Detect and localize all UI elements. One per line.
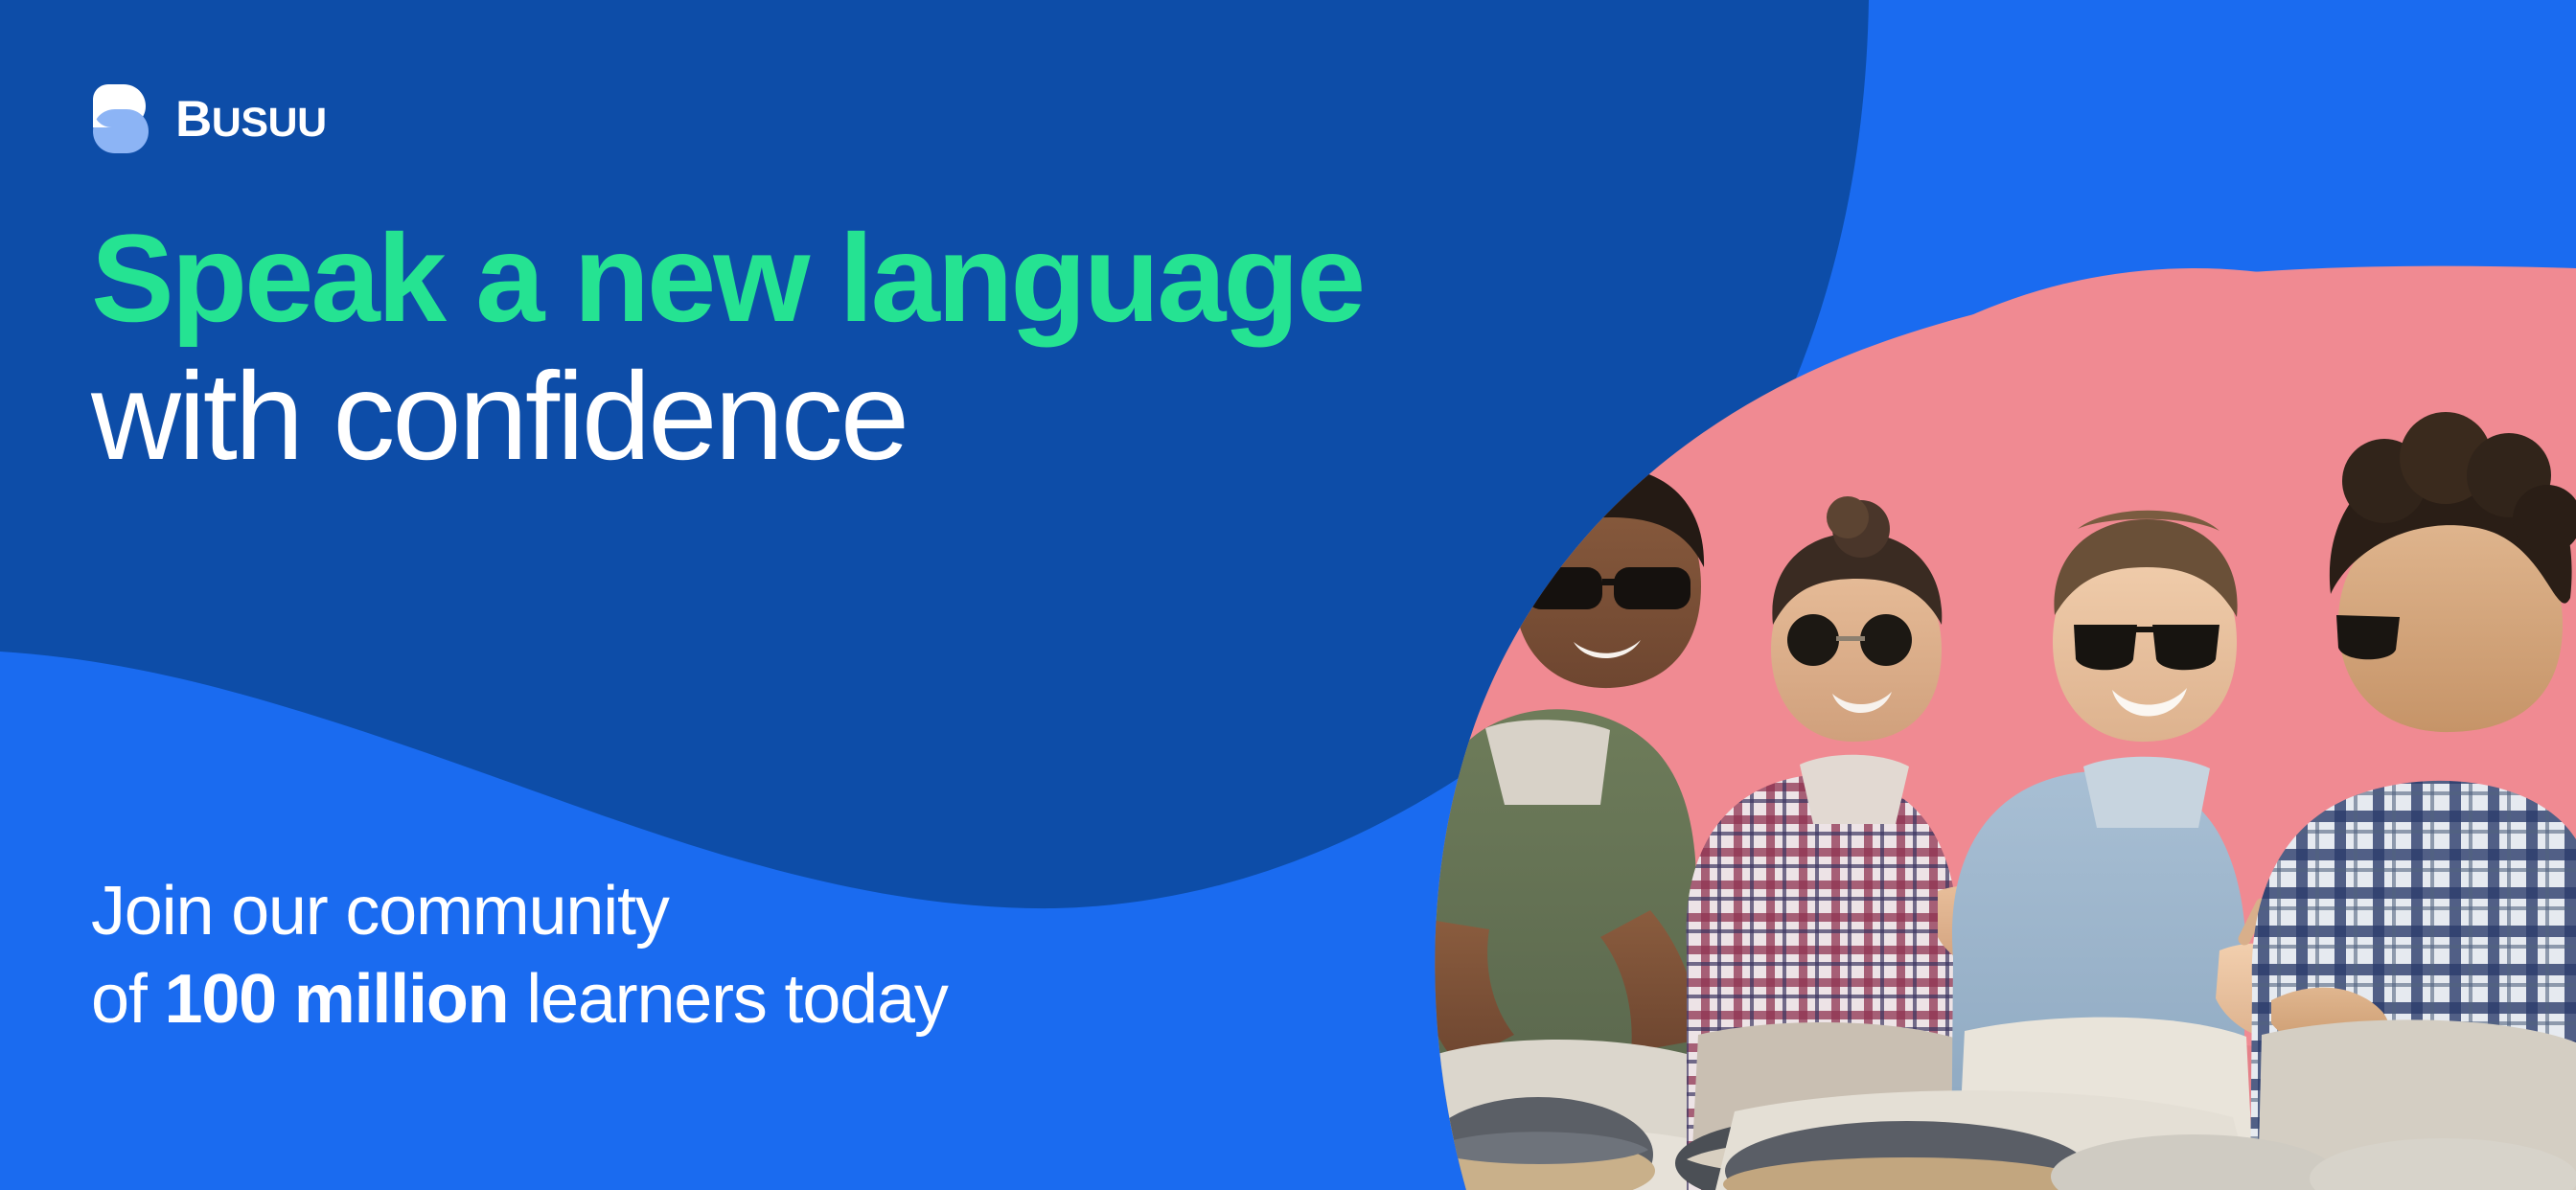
people-photo (1370, 192, 2576, 1190)
headline-line-1: Speak a new language (91, 216, 1363, 340)
busuu-logo[interactable]: BUSUU (91, 84, 327, 153)
busuu-promo-banner: BUSUU Speak a new language with confiden… (0, 0, 2576, 1190)
subheading-line-1: Join our community (91, 867, 948, 955)
headline-line-2: with confidence (91, 354, 1363, 478)
subheading-prefix: of (91, 961, 164, 1038)
person-1 (1418, 468, 1704, 1190)
subheading-suffix: learners today (508, 961, 947, 1038)
learner-count: 100 million (164, 961, 508, 1038)
subheading-line-2: of 100 million learners today (91, 955, 948, 1043)
subheading: Join our community of 100 million learne… (91, 867, 948, 1043)
busuu-speech-bubble-icon (91, 84, 150, 153)
page-title: Speak a new language with confidence (91, 216, 1363, 478)
busuu-wordmark: BUSUU (175, 94, 327, 145)
sunglasses-4 (2336, 615, 2400, 659)
